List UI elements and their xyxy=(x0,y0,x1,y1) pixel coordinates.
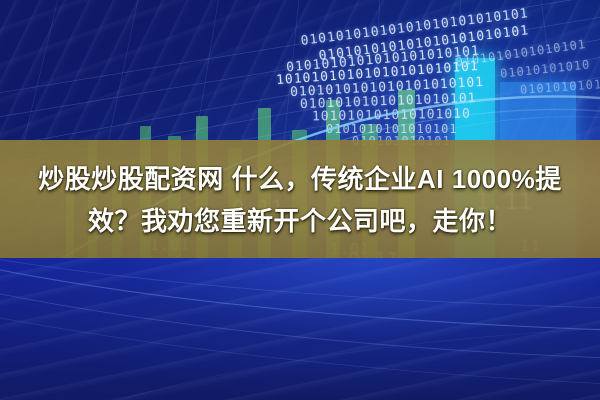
headline-text: 炒股炒股配资网 什么，传统企业AI 1000%提 效？我劝您重新开个公司吧，走你… xyxy=(16,152,584,248)
headline-line-1: 炒股炒股配资网 什么，传统企业AI 1000%提 xyxy=(38,159,561,199)
bottom-ray-lines-icon xyxy=(0,258,600,400)
banner-image: 0101010101010101010101010101010101010101… xyxy=(0,0,600,400)
headline-line-2: 效？我劝您重新开个公司吧，走你！ xyxy=(88,201,512,241)
